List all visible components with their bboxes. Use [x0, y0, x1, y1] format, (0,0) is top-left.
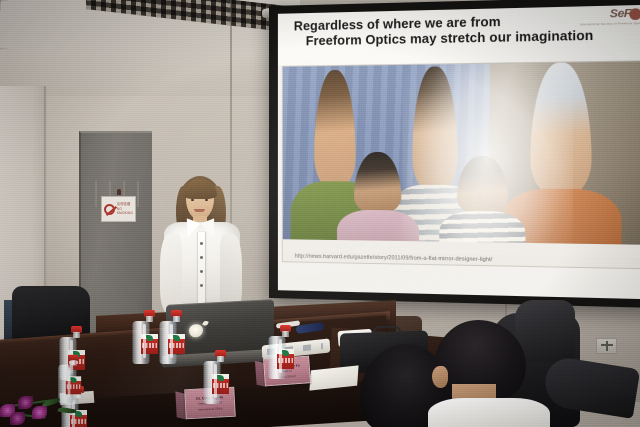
no-smoking-icon [104, 204, 115, 215]
screenshot-root: 请勿吸烟 NO SMOKING Regardless of where we a… [0, 0, 640, 427]
orchid-bloom-3 [32, 406, 47, 419]
presenter-smile [194, 209, 205, 212]
sefo-logo-dot-icon [629, 8, 640, 20]
orchid-bloom-2 [18, 396, 33, 409]
sefo-logo: SeF ™ [610, 7, 640, 21]
presenter-eye-left [191, 199, 194, 201]
presenter-arm-left [160, 234, 182, 312]
stretched-person-3 [512, 62, 611, 268]
water-bottle-3 [141, 310, 158, 364]
shirt-button-3 [200, 270, 203, 273]
shirt-button-1 [200, 242, 203, 245]
orchid-leaf-2 [58, 406, 77, 414]
audience-2-shirt [428, 398, 550, 427]
bottle-leaf-logo-3 [146, 335, 153, 341]
stretched-head-3 [531, 62, 592, 197]
projection-screen: Regardless of where we are from Freeform… [269, 0, 640, 308]
slide-title-block: Regardless of where we are from Freeform… [278, 5, 640, 66]
bottle-leaf-logo-7 [282, 350, 289, 356]
audience-member-white-shirt [424, 320, 554, 427]
apple-logo-icon [196, 321, 210, 338]
sefo-logo-word: SeF [610, 7, 631, 20]
shirt-button-4 [200, 284, 203, 287]
stretched-head-4 [354, 152, 401, 214]
water-bottle-7 [277, 325, 294, 379]
bottle-leaf-logo-6 [217, 375, 224, 381]
projected-slide: Regardless of where we are from Freeform… [278, 5, 640, 300]
slide-photograph: http://news.harvard.edu/gazette/story/20… [282, 60, 640, 269]
door-sign-line-2: NO SMOKING [117, 207, 133, 216]
orchid-flowers [0, 378, 96, 427]
wall-outlet-icon [596, 338, 617, 354]
audience-2-ear [432, 366, 448, 388]
presenter-eye-right [205, 199, 208, 201]
stretched-head-5 [457, 156, 507, 215]
no-smoking-sign: 请勿吸烟 NO SMOKING [101, 196, 136, 222]
bottle-leaf-logo-4 [173, 335, 180, 341]
placard-1-title-2: International Office [198, 406, 222, 411]
door-hook [117, 189, 121, 195]
orchid-bloom-4 [10, 412, 25, 425]
water-bottle-4 [168, 310, 185, 364]
water-bottle-6 [212, 350, 229, 404]
shirt-button-2 [200, 256, 203, 259]
